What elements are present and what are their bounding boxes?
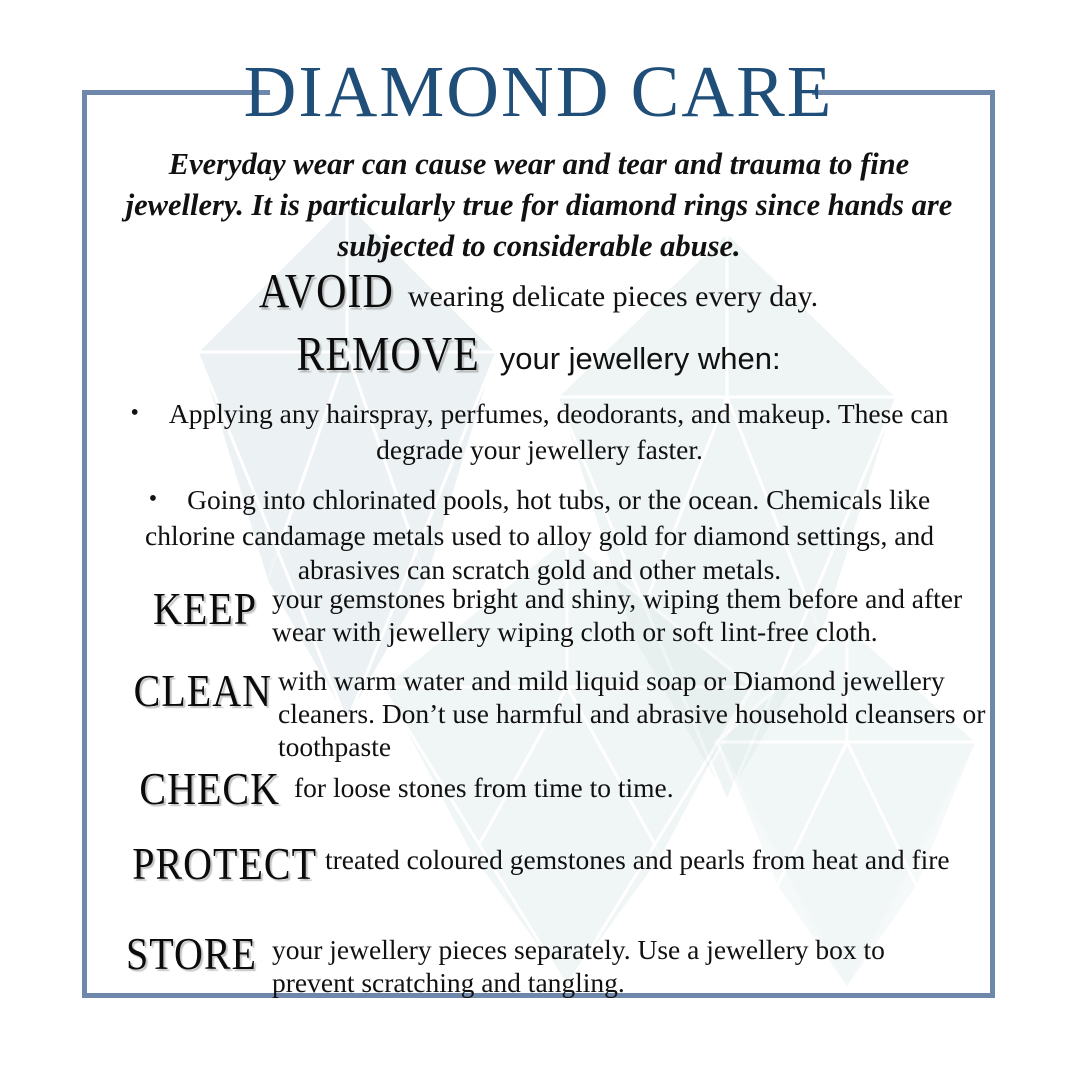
section-keyword-clean: CLEAN [82,666,272,716]
list-item-text: Going into chlorinated pools, hot tubs, … [145,484,934,585]
remove-bullet-list: •Applying any hairspray, perfumes, deodo… [112,397,967,603]
remove-line: REMOVEyour jewellery when: [82,335,995,383]
section-keyword-store: STORE [82,929,257,979]
section-text-check: for loose stones from time to time. [294,771,984,804]
section-text-protect: treated coloured gemstones and pearls fr… [325,843,985,876]
intro-paragraph: Everyday wear can cause wear and tear an… [108,144,970,267]
document-content: DIAMOND CARE Everyday wear can cause wea… [82,92,995,998]
section-keyword-check: CHECK [82,764,280,814]
list-item: •Applying any hairspray, perfumes, deodo… [112,397,967,467]
bullet-dot-icon: • [149,486,157,512]
section-text-store: your jewellery pieces separately. Use a … [272,933,972,999]
remove-keyword: REMOVE [296,327,479,383]
section-text-keep: your gemstones bright and shiny, wiping … [272,582,982,648]
section-keyword-protect: PROTECT [82,839,317,889]
avoid-keyword: AVOID [259,264,394,320]
section-keyword-keep: KEEP [82,584,257,634]
section-text-clean: with warm water and mild liquid soap or … [278,664,994,763]
bullet-dot-icon: • [130,400,138,426]
avoid-line: AVOIDwearing delicate pieces every day. [82,272,995,320]
avoid-text: wearing delicate pieces every day. [408,280,818,313]
list-item-text: Applying any hairspray, perfumes, deodor… [169,398,949,465]
list-item: •Going into chlorinated pools, hot tubs,… [112,483,967,587]
remove-text: your jewellery when: [500,341,781,376]
page-title: DIAMOND CARE [82,52,995,132]
